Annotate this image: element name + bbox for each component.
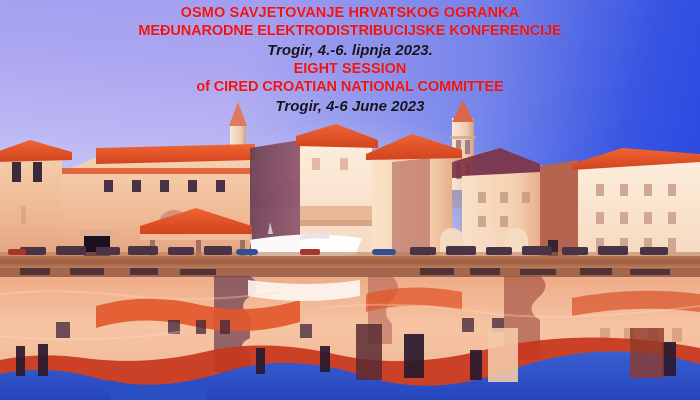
date-line-english: Trogir, 4-6 June 2023 [0,98,700,115]
harbour-water-reflection [0,268,700,400]
water-reflection-svg [0,268,700,400]
headline-line-2: MEĐUNARODNE ELEKTRODISTRIBUCIJSKE KONFER… [0,23,700,39]
headline-line-3: EIGHT SESSION [0,61,700,77]
headline-line-4: of CIRED CROATIAN NATIONAL COMMITTEE [0,79,700,95]
headline-line-1: OSMO SAVJETOVANJE HRVATSKOG OGRANKA [0,5,700,21]
date-line-croatian: Trogir, 4.-6. lipnja 2023. [0,42,700,59]
conference-banner-poster: OSMO SAVJETOVANJE HRVATSKOG OGRANKA MEĐU… [0,0,700,400]
